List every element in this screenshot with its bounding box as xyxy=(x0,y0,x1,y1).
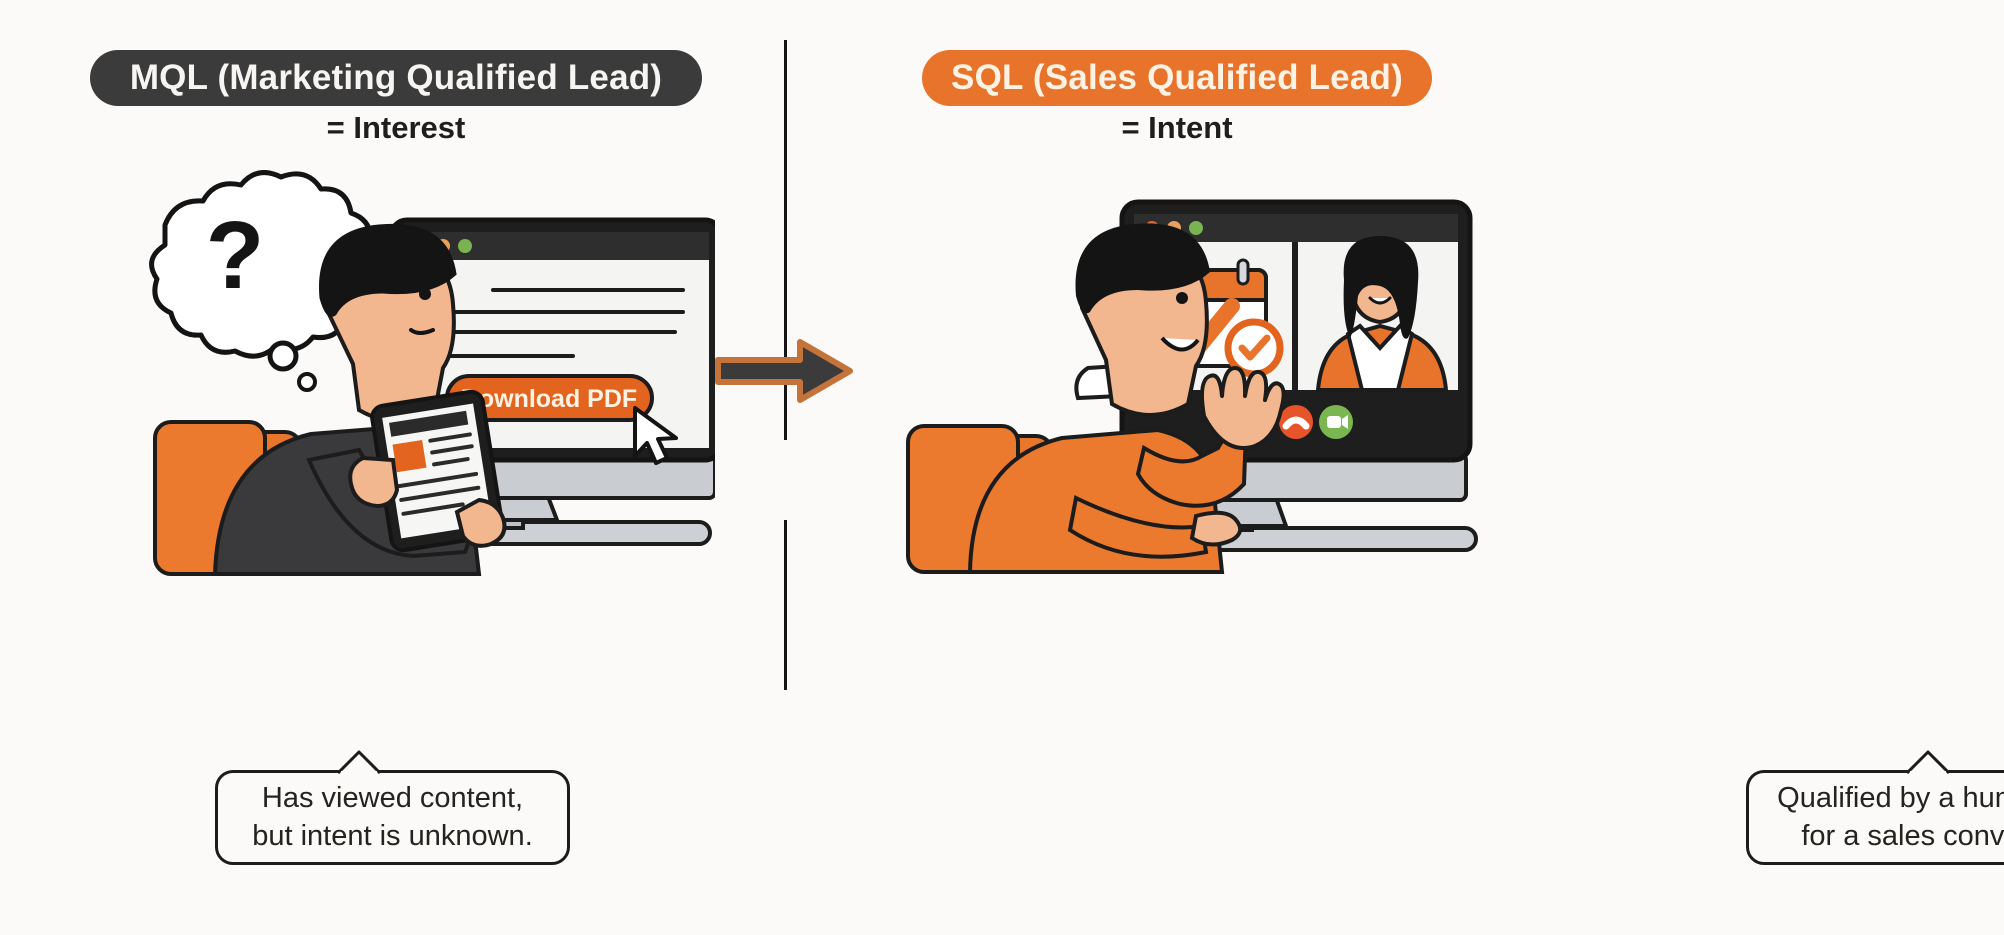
callout-sql-line2: for a sales conversation. xyxy=(1801,818,2004,855)
mql-badge: MQL (Marketing Qualified Lead) xyxy=(90,50,702,106)
person-eye xyxy=(419,288,431,300)
panel-mql: MQL (Marketing Qualified Lead) = Interes… xyxy=(0,0,784,935)
traffic-light-green[interactable] xyxy=(1189,221,1203,235)
participant-smile xyxy=(1370,298,1390,303)
question-mark-glyph: ? xyxy=(206,202,265,309)
camera-button[interactable] xyxy=(1319,405,1353,439)
callout-tail-mql xyxy=(336,750,382,774)
callout-mql-line2: but intent is unknown. xyxy=(252,818,533,855)
callout-sql: Qualified by a human, ready for a sales … xyxy=(1746,770,2004,865)
sql-illustration xyxy=(886,180,1506,580)
sql-subtitle: = Intent xyxy=(922,110,1432,146)
mql-subtitle: = Interest xyxy=(90,110,702,146)
diagram-canvas: MQL (Marketing Qualified Lead) = Interes… xyxy=(0,0,2004,935)
person-eye xyxy=(1176,292,1188,304)
sql-badge: SQL (Sales Qualified Lead) xyxy=(922,50,1432,106)
callout-mql-line1: Has viewed content, xyxy=(262,780,523,817)
hand-left xyxy=(350,458,397,506)
callout-mql: Has viewed content, but intent is unknow… xyxy=(215,770,570,865)
download-pdf-label: Download PDF xyxy=(461,385,637,413)
mql-illustration: ? xyxy=(95,170,715,590)
end-call-button[interactable] xyxy=(1279,405,1313,439)
tablet-image-block xyxy=(392,440,426,472)
hand-right xyxy=(457,500,505,546)
panel-sql: SQL (Sales Qualified Lead) = Intent xyxy=(786,0,2004,935)
callout-tail-sql xyxy=(1905,750,1951,774)
hand-on-keyboard xyxy=(1192,513,1240,545)
traffic-light-green[interactable] xyxy=(458,239,472,253)
callout-sql-line1: Qualified by a human, ready xyxy=(1777,780,2004,817)
